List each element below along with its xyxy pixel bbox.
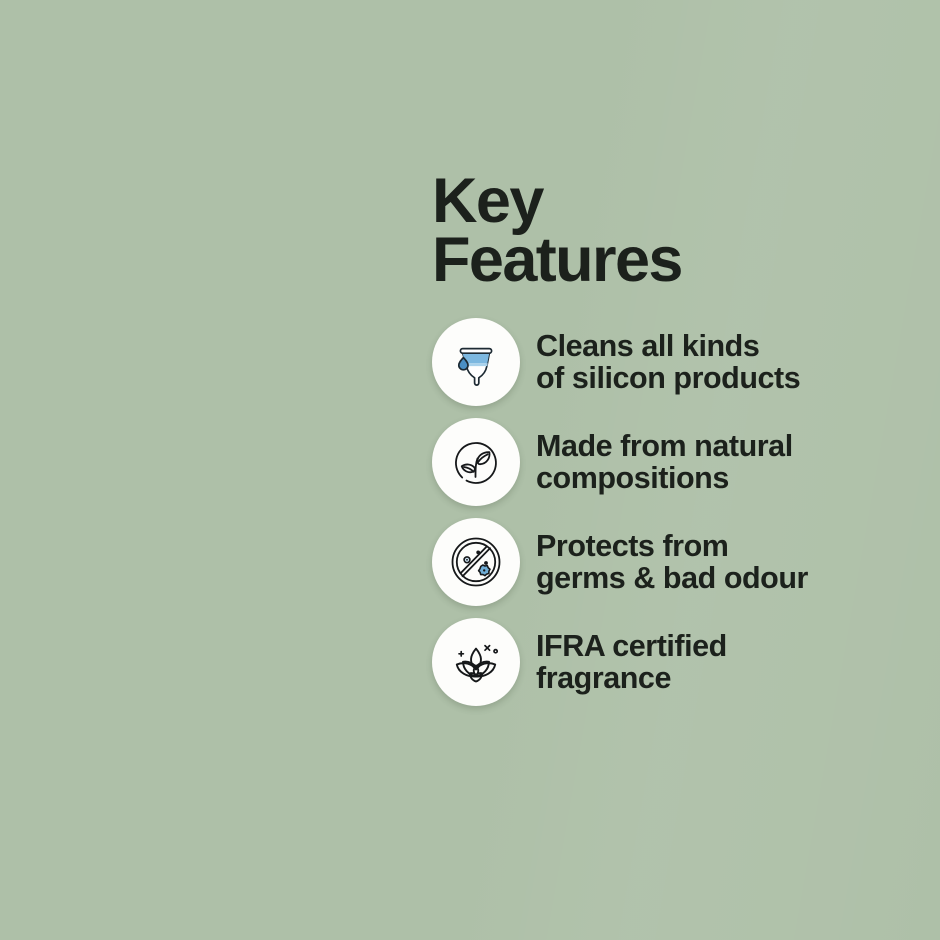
- feature-item: Protects from germs & bad odour: [432, 518, 902, 606]
- icon-badge: [432, 418, 520, 506]
- lotus-flower-icon: [447, 633, 505, 691]
- feature-item: Cleans all kinds of silicon products: [432, 318, 902, 406]
- feature-label: Cleans all kinds of silicon products: [536, 330, 800, 395]
- icon-badge: [432, 618, 520, 706]
- icon-badge: [432, 318, 520, 406]
- content-column: Key Features: [432, 172, 902, 706]
- feature-item: IFRA certified fragrance: [432, 618, 902, 706]
- key-features-poster: Key Features: [0, 0, 940, 940]
- feature-label: Protects from germs & bad odour: [536, 530, 808, 595]
- no-germs-icon: [447, 533, 505, 591]
- feature-label: IFRA certified fragrance: [536, 630, 727, 695]
- feature-item: Made from natural compositions: [432, 418, 902, 506]
- icon-badge: [432, 518, 520, 606]
- page-title: Key Features: [432, 172, 902, 290]
- leaf-sprout-circle-icon: [448, 434, 504, 490]
- feature-list: Cleans all kinds of silicon products: [432, 318, 902, 706]
- feature-label: Made from natural compositions: [536, 430, 793, 495]
- menstrual-cup-icon: [449, 335, 503, 389]
